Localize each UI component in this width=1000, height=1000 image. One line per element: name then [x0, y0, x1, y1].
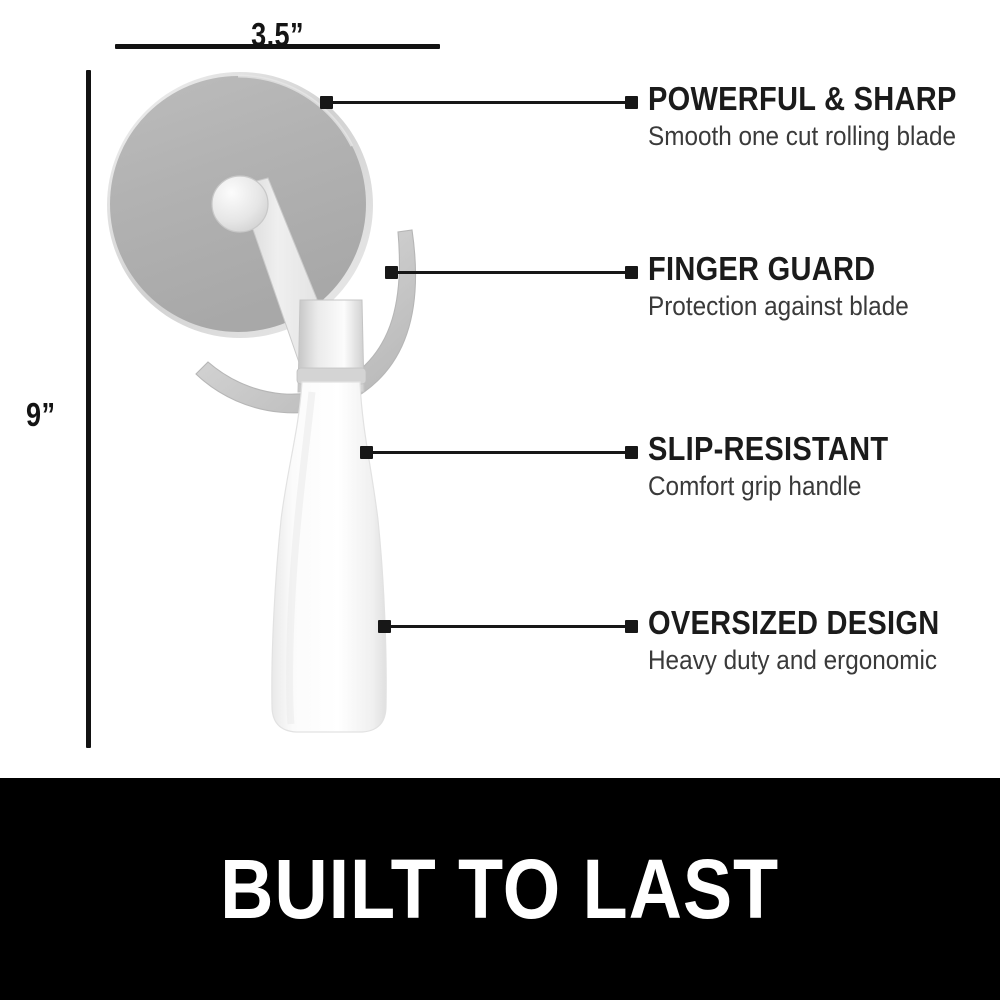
callout-marker-target-1 — [625, 96, 638, 109]
callout-subtitle-4: Heavy duty and ergonomic — [648, 645, 946, 675]
neck-ferrule-part — [297, 300, 366, 392]
callout-leader-line-4 — [385, 625, 632, 628]
callout-subtitle-3: Comfort grip handle — [648, 471, 894, 501]
callout-marker-target-3 — [625, 446, 638, 459]
callout-text-block-2: FINGER GUARD Protection against blade — [648, 252, 938, 321]
callout-title-3: SLIP-RESISTANT — [648, 432, 888, 466]
callout-title-4: OVERSIZED DESIGN — [648, 606, 939, 640]
callout-subtitle-2: Protection against blade — [648, 291, 909, 321]
callout-marker-target-2 — [625, 266, 638, 279]
callout-title-2: FINGER GUARD — [648, 252, 903, 286]
product-image-pizza-cutter — [0, 0, 620, 780]
callout-text-block-1: POWERFUL & SHARP Smooth one cut rolling … — [648, 82, 999, 151]
footer-banner: BUILT TO LAST — [0, 778, 1000, 1000]
callout-leader-line-1 — [327, 101, 632, 104]
callout-leader-line-3 — [367, 451, 632, 454]
callout-leader-line-2 — [392, 271, 632, 274]
callout-marker-target-4 — [625, 620, 638, 633]
handle-part — [272, 382, 386, 732]
footer-headline: BUILT TO LAST — [221, 847, 780, 931]
infographic-canvas: 3.5” 9” — [0, 0, 1000, 1000]
callout-subtitle-1: Smooth one cut rolling blade — [648, 121, 964, 151]
callout-text-block-3: SLIP-RESISTANT Comfort grip handle — [648, 432, 921, 501]
callout-title-1: POWERFUL & SHARP — [648, 82, 957, 116]
callout-text-block-4: OVERSIZED DESIGN Heavy duty and ergonomi… — [648, 606, 979, 675]
